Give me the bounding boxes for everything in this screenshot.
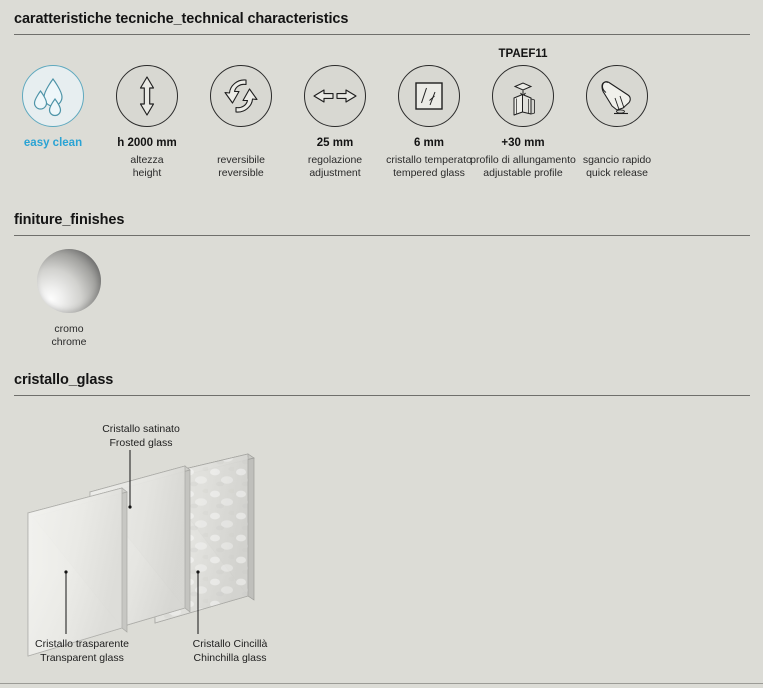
profile-extrusion-icon: [492, 65, 554, 127]
tech-desc-it-adjustment: regolazione: [308, 154, 362, 166]
tech-item-height: h 2000 mm altezza height: [100, 46, 194, 180]
glass-section: cristallo_glass: [0, 373, 763, 396]
water-drops-icon: [22, 65, 84, 127]
horizontal-double-arrow-icon: [304, 65, 366, 127]
tech-item-reversible: reversibile reversible: [194, 46, 288, 180]
glass-section-title: cristallo_glass: [0, 373, 763, 388]
technical-characteristics-section: caratteristiche tecniche_technical chara…: [0, 12, 763, 35]
glass-pane-icon: [398, 65, 460, 127]
callout-transparent-it: Cristallo trasparente: [35, 638, 129, 650]
hand-press-icon: [586, 65, 648, 127]
page-bottom-divider: [0, 683, 763, 684]
tech-value-height: h 2000 mm: [117, 136, 176, 150]
technical-section-title: caratteristiche tecniche_technical chara…: [0, 12, 763, 27]
callout-chinchilla-glass: Cristallo Cincillà Chinchilla glass: [155, 638, 305, 665]
tech-item-adjustable-profile: TPAEF11 +30 mm profilo di allungamento a…: [476, 46, 570, 180]
tech-value-tempered-glass: 6 mm: [414, 136, 444, 150]
tech-desc-quick-release: sgancio rapido quick release: [562, 154, 672, 180]
tech-item-quick-release: sgancio rapido quick release: [570, 46, 664, 180]
tech-desc-it-tempered-glass: cristallo temperato: [386, 154, 472, 166]
tech-item-tempered-glass: 6 mm cristallo temperato tempered glass: [382, 46, 476, 180]
tech-desc-it-height: altezza: [130, 154, 163, 166]
technical-section-divider: [14, 34, 750, 35]
vertical-double-arrow-icon: [116, 65, 178, 127]
glass-panel-transparent: [28, 488, 127, 656]
callout-frosted-en: Frosted glass: [76, 437, 206, 451]
tech-item-adjustment: 25 mm regolazione adjustment: [288, 46, 382, 180]
finishes-section: finiture_finishes: [0, 213, 763, 236]
finishes-section-title: finiture_finishes: [0, 213, 763, 228]
rotation-arrows-icon: [210, 65, 272, 127]
glass-section-divider: [14, 395, 750, 396]
tech-value-easy-clean: easy clean: [24, 136, 82, 150]
tech-desc-it-adjustable-profile: profilo di allungamento: [470, 154, 576, 166]
callout-chinchilla-it: Cristallo Cincillà: [193, 638, 268, 650]
finish-label-chrome: cromo chrome: [51, 323, 86, 349]
tech-desc-en-quick-release: quick release: [562, 167, 672, 180]
callout-transparent-en: Transparent glass: [7, 652, 157, 666]
chrome-sphere-swatch[interactable]: [37, 249, 101, 313]
finish-item-chrome[interactable]: cromo chrome: [14, 249, 124, 349]
tech-desc-it-reversible: reversibile: [217, 154, 265, 166]
technical-icon-row: easy clean h 2000 mm altezza height: [0, 46, 763, 176]
callout-frosted-it: Cristallo satinato: [102, 423, 180, 435]
callout-chinchilla-en: Chinchilla glass: [155, 652, 305, 666]
tech-desc-it-quick-release: sgancio rapido: [583, 154, 651, 166]
finish-name-en-chrome: chrome: [51, 336, 86, 349]
tech-value-adjustment: 25 mm: [317, 136, 353, 150]
tech-code-adjustable-profile: TPAEF11: [499, 46, 548, 62]
tech-item-easy-clean: easy clean: [6, 46, 100, 154]
glass-illustration-area: Cristallo satinato Frosted glass Cristal…: [0, 400, 763, 688]
callout-transparent-glass: Cristallo trasparente Transparent glass: [7, 638, 157, 665]
finish-name-it-chrome: cromo: [54, 323, 83, 335]
callout-frosted-glass: Cristallo satinato Frosted glass: [76, 423, 206, 450]
tech-value-adjustable-profile: +30 mm: [501, 136, 544, 150]
finishes-section-divider: [14, 235, 750, 236]
